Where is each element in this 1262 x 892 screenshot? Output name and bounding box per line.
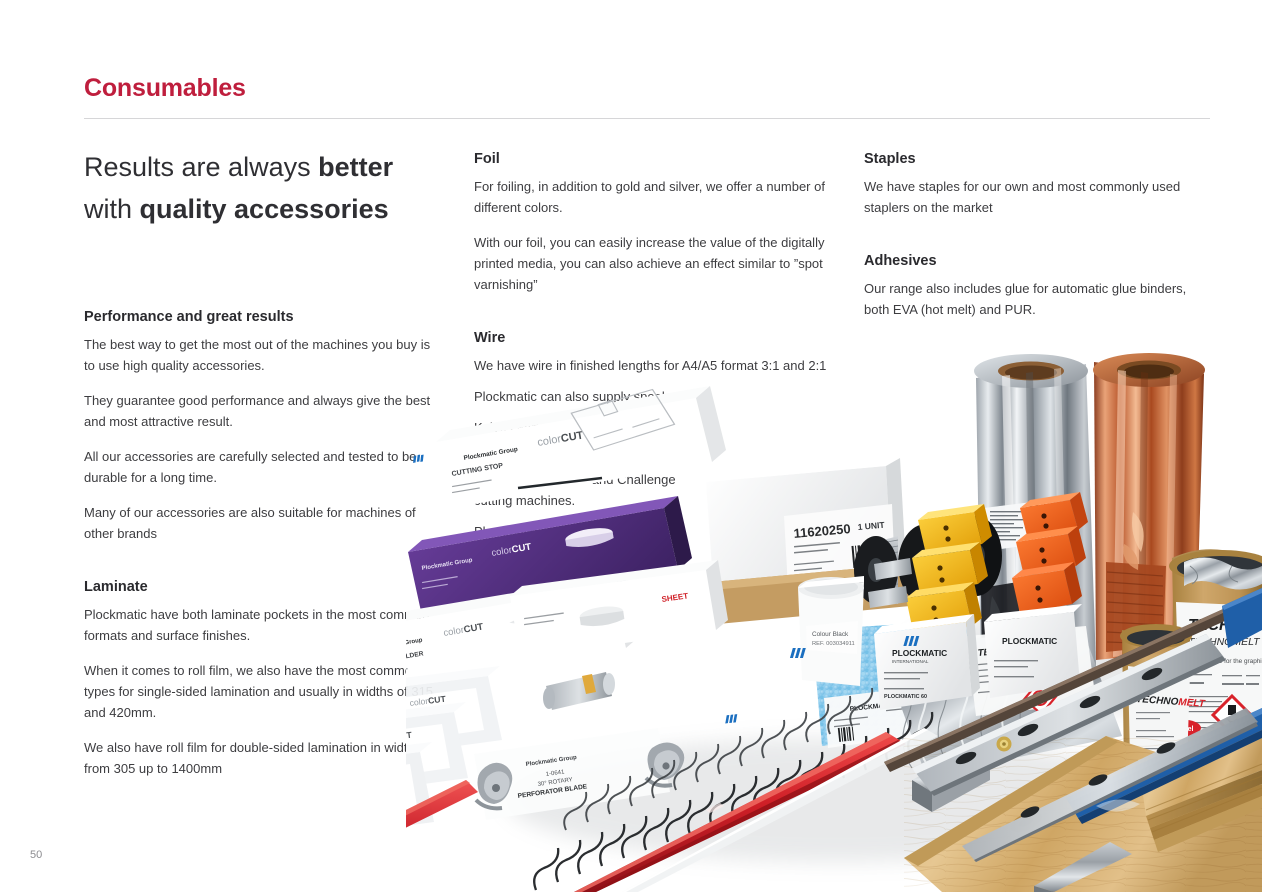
paragraph: The best way to get the most out of the … xyxy=(84,334,444,376)
toner-tub: Colour Black REF. 003034911 xyxy=(798,576,864,686)
svg-text:INTERNATIONAL: INTERNATIONAL xyxy=(892,659,929,664)
steel-roller-pin xyxy=(543,672,615,710)
paragraph: We have staples for our own and most com… xyxy=(864,176,1212,218)
paragraph: With our foil, you can easily increase t… xyxy=(474,232,834,295)
svg-text:PLOCKMATIC: PLOCKMATIC xyxy=(892,648,947,658)
tub-label-line2: REF. 003034911 xyxy=(812,641,855,647)
section-heading-adhesives: Adhesives xyxy=(864,252,1212,270)
tub-label-line1: Colour Black xyxy=(812,631,849,638)
paragraph: Many of our accessories are also suitabl… xyxy=(84,502,444,544)
headline-line2-bold: quality accessories xyxy=(140,194,389,224)
paragraph: When it comes to roll film, we also have… xyxy=(84,660,444,723)
blade-cartridge-stack-orange xyxy=(1012,492,1088,614)
paragraph: All our accessories are carefully select… xyxy=(84,446,444,488)
page-number: 50 xyxy=(30,849,42,861)
section-heading-staples: Staples xyxy=(864,150,1212,168)
column-left: Performance and great results The best w… xyxy=(84,308,444,779)
paragraph: For foiling, in addition to gold and sil… xyxy=(474,176,834,218)
section-heading-laminate: Laminate xyxy=(84,578,444,596)
headline-line1-bold: better xyxy=(318,152,393,182)
headline: Results are always better with quality a… xyxy=(84,146,484,230)
section-heading-performance: Performance and great results xyxy=(84,308,444,326)
svg-text:PLOCKMATIC: PLOCKMATIC xyxy=(1002,636,1057,646)
section-heading-foil: Foil xyxy=(474,150,834,168)
knife-bolt xyxy=(997,737,1012,752)
column-right: Staples We have staples for our own and … xyxy=(864,150,1212,320)
paragraph: They guarantee good performance and alwa… xyxy=(84,390,444,432)
product-photograph: TECHNOMELT TECHNOMELT PUR 55 Adhesive fo… xyxy=(406,330,1262,892)
headline-line1-regular: Results are always xyxy=(84,152,318,182)
headline-line2-regular: with xyxy=(84,194,140,224)
colorcut-box-cutting-stop: Plockmatic Group colorCUT CUTTING STOP xyxy=(413,386,726,508)
page-title: Consumables xyxy=(84,74,246,103)
paragraph: We also have roll film for double-sided … xyxy=(84,737,444,779)
title-divider xyxy=(84,118,1210,119)
paragraph: Our range also includes glue for automat… xyxy=(864,278,1212,320)
document-page: Consumables Results are always better wi… xyxy=(0,0,1262,892)
paragraph: Plockmatic have both laminate pockets in… xyxy=(84,604,444,646)
staple-box-product-text: PLOCKMATIC 60 xyxy=(884,694,927,700)
